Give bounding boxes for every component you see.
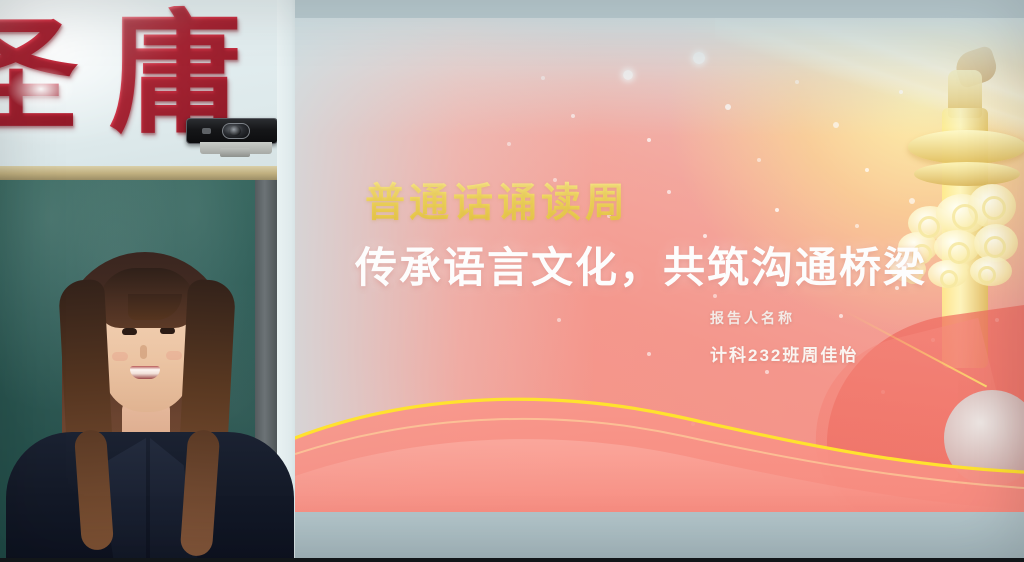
cheek-left xyxy=(112,352,128,361)
eye-right xyxy=(160,327,175,334)
cheek-right xyxy=(166,351,182,360)
eye-left xyxy=(122,328,137,335)
projection-screen: 普通话诵读周 传承语言文化，共筑沟通桥梁 报告人名称 计科232班周佳怡 xyxy=(295,0,1024,562)
mouth xyxy=(130,366,160,379)
slide-text-layer: 普通话诵读周 传承语言文化，共筑沟通桥梁 报告人名称 计科232班周佳怡 xyxy=(295,18,1024,512)
screen-lower-blank xyxy=(295,512,1024,562)
slide-subtitle: 传承语言文化，共筑沟通桥梁 xyxy=(355,234,927,295)
slide-title: 普通话诵读周 xyxy=(365,170,629,228)
screenshot-root: 圣 庸 xyxy=(0,0,1024,562)
presentation-slide: 普通话诵读周 传承语言文化，共筑沟通桥梁 报告人名称 计科232班周佳怡 xyxy=(295,18,1024,512)
classroom-background: 圣 庸 xyxy=(0,0,300,562)
nose xyxy=(140,345,147,359)
presenter-name: 计科232班周佳怡 xyxy=(710,341,858,366)
bottom-letterbox xyxy=(0,558,1024,562)
hair-bangs xyxy=(98,268,196,328)
presenter-role-label: 报告人名称 xyxy=(710,308,795,328)
presenter-figure xyxy=(0,0,300,562)
